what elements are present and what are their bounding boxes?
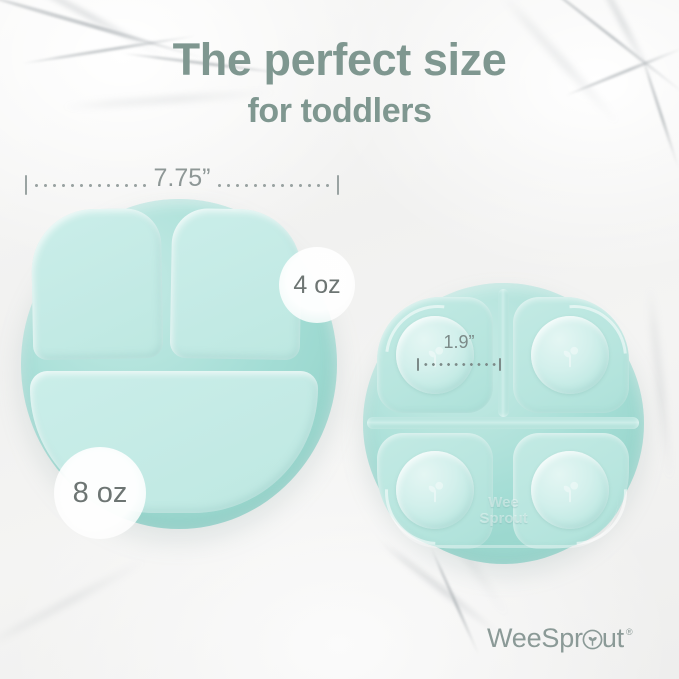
sprout-icon <box>582 628 603 649</box>
headline-line-2: for toddlers <box>0 93 679 129</box>
dimension-dots-right <box>215 184 332 187</box>
plate-width-label: 7.75” <box>148 164 217 193</box>
brand-name-part-1: WeeSpr <box>487 625 583 652</box>
divided-toddler-plate-back: Wee Sprout <box>363 283 644 564</box>
dimension-dots <box>422 363 496 366</box>
sprout-icon <box>420 475 450 505</box>
divider-groove-horizontal <box>367 417 639 429</box>
brand-logo: WeeSpr ut ® <box>487 625 633 652</box>
headline-line-1: The perfect size <box>0 36 679 84</box>
dimension-end-cap-right <box>337 175 339 195</box>
plate-width-dimension: 7.75” <box>25 172 339 198</box>
infographic-canvas: The perfect size for toddlers 7.75” <box>0 0 679 679</box>
sprout-icon <box>555 475 585 505</box>
suction-cup <box>531 316 609 394</box>
suction-cup <box>531 451 609 529</box>
suction-cup-dimension: 1.9” <box>417 336 501 370</box>
dimension-end-cap-right <box>499 358 501 371</box>
page-title: The perfect size for toddlers <box>0 36 679 129</box>
capacity-badge-8oz: 8 oz <box>54 447 146 539</box>
sprout-icon <box>555 340 585 370</box>
plate-back-body: Wee Sprout <box>363 283 644 564</box>
brand-name-part-2: ut <box>602 625 624 652</box>
capacity-badge-4oz: 4 oz <box>279 247 355 323</box>
compartment-top-left <box>31 208 164 360</box>
dimension-dots-left <box>32 184 149 187</box>
capacity-badge-8oz-label: 8 oz <box>73 477 128 510</box>
dimension-end-cap-left <box>417 358 419 371</box>
registered-trademark-mark: ® <box>626 627 633 637</box>
suction-cup-width-label: 1.9” <box>443 332 474 353</box>
brand-wordmark: WeeSpr ut <box>487 625 624 652</box>
capacity-badge-4oz-label: 4 oz <box>293 271 340 300</box>
suction-cup <box>396 451 474 529</box>
dimension-end-cap-left <box>25 175 27 195</box>
